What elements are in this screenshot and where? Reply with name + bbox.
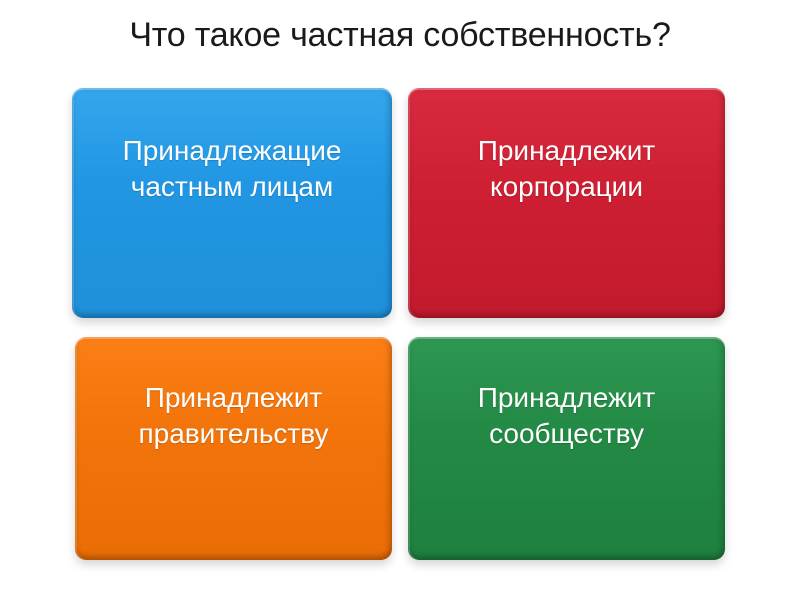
answer-option-red[interactable]: Принадлежит корпорации — [408, 88, 725, 318]
answer-option-label: Принадлежащие частным лицам — [80, 133, 384, 205]
answer-option-label: Принадлежит сообществу — [416, 380, 717, 452]
answer-option-label: Принадлежит правительству — [83, 380, 384, 452]
answer-option-label: Принадлежит корпорации — [416, 133, 717, 205]
answer-option-green[interactable]: Принадлежит сообществу — [408, 337, 725, 560]
answer-option-blue[interactable]: Принадлежащие частным лицам — [72, 88, 392, 318]
quiz-slide: Что такое частная собственность? Принадл… — [0, 0, 800, 600]
answer-option-orange[interactable]: Принадлежит правительству — [75, 337, 392, 560]
answer-options-grid: Принадлежащие частным лицам Принадлежит … — [0, 0, 800, 600]
